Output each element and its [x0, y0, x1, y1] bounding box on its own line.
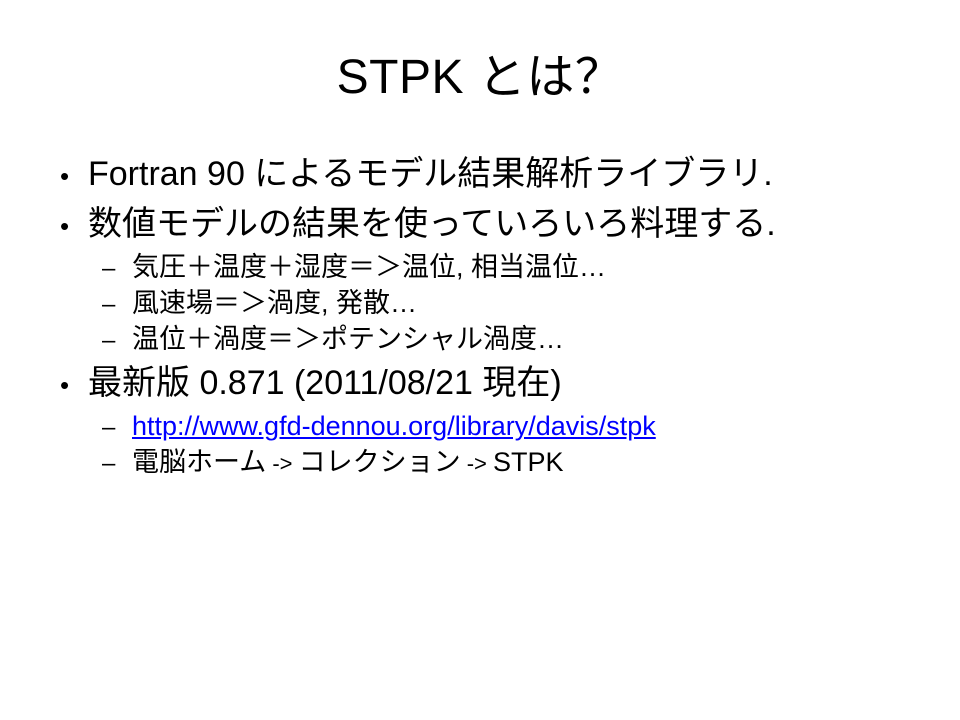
bullet-dash-icon: –	[102, 452, 132, 476]
nav-path: 電脳ホーム -> コレクション -> STPK	[132, 445, 564, 481]
bullet-dot-icon: •	[52, 372, 88, 398]
nav-path-part-3: STPK	[493, 447, 564, 477]
sub-list-item-navpath: – 電脳ホーム -> コレクション -> STPK	[52, 445, 932, 481]
sub-list-item: – 気圧＋温度＋湿度＝＞温位, 相当温位…	[52, 250, 932, 286]
list-item-label: 数値モデルの結果を使っていろいろ料理する.	[88, 202, 776, 246]
stpk-homepage-link[interactable]: http://www.gfd-dennou.org/library/davis/…	[132, 409, 656, 445]
list-item-label: Fortran 90 によるモデル結果解析ライブラリ.	[88, 152, 773, 196]
presentation-slide: STPK とは？ • Fortran 90 によるモデル結果解析ライブラリ. •…	[0, 0, 960, 720]
slide-body-list: • Fortran 90 によるモデル結果解析ライブラリ. • 数値モデルの結果…	[52, 152, 932, 481]
sub-list-item: – 温位＋渦度＝＞ポテンシャル渦度…	[52, 322, 932, 358]
bullet-dash-icon: –	[102, 293, 132, 317]
nav-arrow-2-icon: ->	[461, 451, 493, 476]
bullet-dash-icon: –	[102, 329, 132, 353]
bullet-dot-icon: •	[52, 213, 88, 239]
sub-list-item-url: – http://www.gfd-dennou.org/library/davi…	[52, 409, 932, 445]
list-item-version: • 最新版 0.871 (2011/08/21 現在)	[52, 361, 932, 405]
nav-arrow-1-icon: ->	[266, 451, 298, 476]
bullet-dash-icon: –	[102, 257, 132, 281]
page-title: STPK とは？	[0, 52, 960, 105]
sub-list-item-label: 風速場＝＞渦度, 発散…	[132, 286, 417, 322]
sub-list-item-label: 温位＋渦度＝＞ポテンシャル渦度…	[132, 322, 564, 358]
stpk-homepage-link-label: http://www.gfd-dennou.org/library/davis/…	[132, 411, 656, 441]
list-item: • Fortran 90 によるモデル結果解析ライブラリ.	[52, 152, 932, 196]
sub-list-item-label: 気圧＋温度＋湿度＝＞温位, 相当温位…	[132, 250, 606, 286]
bullet-dash-icon: –	[102, 416, 132, 440]
list-item: • 数値モデルの結果を使っていろいろ料理する.	[52, 202, 932, 246]
bullet-dot-icon: •	[52, 163, 88, 189]
sub-list-item: – 風速場＝＞渦度, 発散…	[52, 286, 932, 322]
nav-path-part-2: コレクション	[299, 447, 461, 477]
nav-path-part-1: 電脳ホーム	[132, 447, 266, 477]
version-label: 最新版 0.871 (2011/08/21 現在)	[88, 361, 562, 405]
